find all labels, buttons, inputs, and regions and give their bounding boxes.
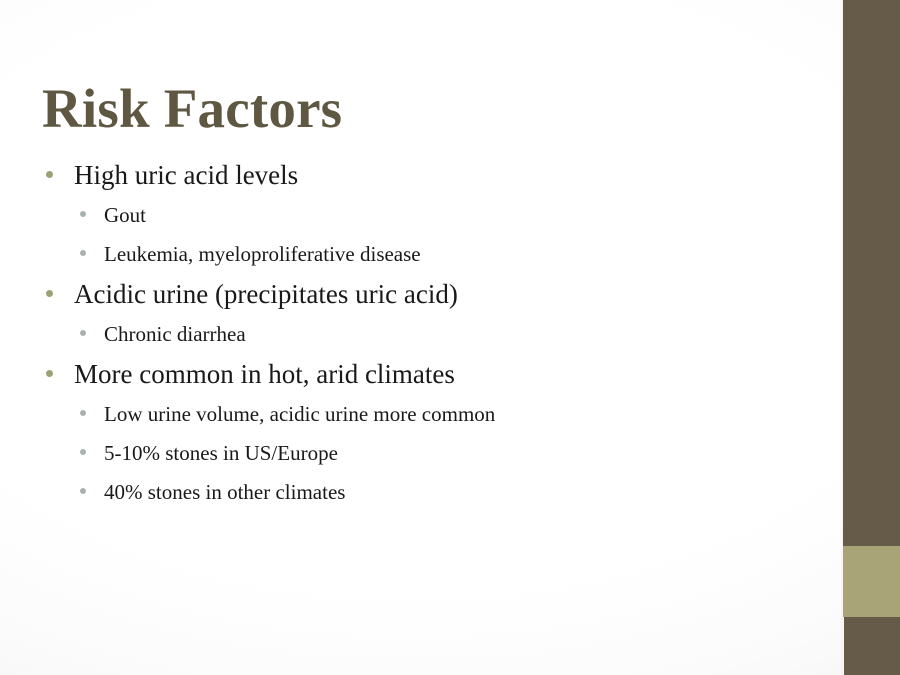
bullet-item-level2: Leukemia, myeloproliferative disease <box>46 235 826 274</box>
bullet-text: Low urine volume, acidic urine more comm… <box>104 395 826 434</box>
slide-canvas: Risk Factors High uric acid levelsGoutLe… <box>0 0 900 675</box>
decorative-sidebar <box>843 0 900 675</box>
bullet-dot-icon <box>80 330 86 336</box>
bullet-item-level2: Low urine volume, acidic urine more comm… <box>46 395 826 434</box>
bullet-dot-icon <box>80 211 86 217</box>
page-title: Risk Factors <box>42 77 342 140</box>
bullet-list: High uric acid levelsGoutLeukemia, myelo… <box>46 155 826 512</box>
bullet-item-level2: 5-10% stones in US/Europe <box>46 434 826 473</box>
bullet-item-level1: More common in hot, arid climates <box>46 354 826 395</box>
bullet-dot-icon <box>46 171 53 178</box>
bullet-item-level2: Chronic diarrhea <box>46 315 826 354</box>
bullet-text: Gout <box>104 196 826 235</box>
bullet-text: 5-10% stones in US/Europe <box>104 434 826 473</box>
bullet-dot-icon <box>46 290 53 297</box>
bullet-dot-icon <box>46 370 53 377</box>
bullet-item-level2: 40% stones in other climates <box>46 473 826 512</box>
sidebar-segment-top <box>843 0 900 546</box>
bullet-dot-icon <box>80 449 86 455</box>
bullet-item-level1: Acidic urine (precipitates uric acid) <box>46 274 826 315</box>
sidebar-segment-bottom <box>844 617 900 675</box>
bullet-dot-icon <box>80 410 86 416</box>
bullet-dot-icon <box>80 488 86 494</box>
bullet-text: Acidic urine (precipitates uric acid) <box>74 274 826 315</box>
bullet-item-level1: High uric acid levels <box>46 155 826 196</box>
bullet-text: High uric acid levels <box>74 155 826 196</box>
bullet-text: 40% stones in other climates <box>104 473 826 512</box>
bullet-text: Leukemia, myeloproliferative disease <box>104 235 826 274</box>
sidebar-segment-accent <box>843 546 900 617</box>
bullet-item-level2: Gout <box>46 196 826 235</box>
bullet-dot-icon <box>80 250 86 256</box>
bullet-text: More common in hot, arid climates <box>74 354 826 395</box>
bullet-text: Chronic diarrhea <box>104 315 826 354</box>
